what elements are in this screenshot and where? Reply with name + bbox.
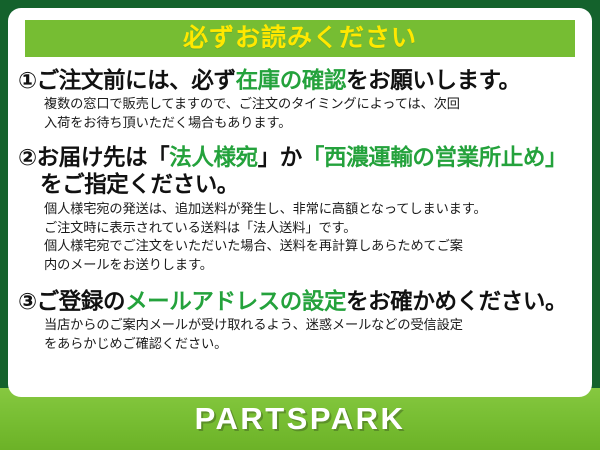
notice-item-2-bracket-open-2: 「 (302, 145, 324, 170)
notice-item-2-highlight-1: 法人様宛 (169, 145, 257, 170)
brand-logo: PARTSPARK (0, 388, 600, 450)
notice-item-2-head-text-a: お届け先は (37, 145, 148, 170)
notice-panel: 必ずお読みください ①ご注文前には、必ず在庫の確認をお願いします。 複数の窓口で… (8, 8, 592, 397)
notice-item-2-heading-line-2: をご指定ください。 (18, 171, 580, 198)
notice-item-3-heading: ③ご登録のメールアドレスの設定をお確かめください。 (18, 288, 580, 315)
notice-item-3-body-line-1: 当店からのご案内メールが受け取れるよう、迷惑メールなどの受信設定 (44, 316, 580, 335)
notice-item-1: ①ご注文前には、必ず在庫の確認をお願いします。 複数の窓口で販売してますので、ご… (18, 67, 580, 133)
notice-item-2-body-line-2: ご注文時に表示されている送料は「法人送料」です。 (44, 219, 580, 238)
notice-item-1-head-text-a: ご注文前には、必ず (37, 68, 236, 93)
notice-item-2-bracket-open-1: 「 (147, 145, 169, 170)
notice-item-1-highlight: 在庫の確認 (236, 68, 347, 93)
notice-item-1-body-line-1: 複数の窓口で販売してますので、ご注文のタイミングによっては、次回 (44, 95, 580, 114)
notice-item-2-highlight-2: 西濃運輸の営業所止め (324, 145, 545, 170)
list-marker-1: ① (18, 68, 37, 93)
notice-item-3-highlight: メールアドレスの設定 (125, 289, 346, 314)
notice-item-3-body-line-2: をあらかじめご確認ください。 (44, 335, 580, 354)
notice-item-2-heading: ②お届け先は「法人様宛」か「西濃運輸の営業所止め」 (18, 144, 580, 171)
list-marker-2: ② (18, 145, 37, 170)
brand-name: PARTSPARK (195, 401, 406, 437)
notice-card: 必ずお読みください ①ご注文前には、必ず在庫の確認をお願いします。 複数の窓口で… (0, 0, 600, 450)
notice-item-2-head-text-b: か (280, 145, 302, 170)
notice-item-3-body: 当店からのご案内メールが受け取れるよう、迷惑メールなどの受信設定 をあらかじめご… (18, 316, 580, 353)
notice-item-1-body-line-2: 入荷をお待ち頂いただく場合もあります。 (44, 114, 580, 133)
notice-item-2-bracket-close-1: 」 (258, 145, 280, 170)
header-bar: 必ずお読みください (25, 20, 575, 57)
notice-item-3: ③ご登録のメールアドレスの設定をお確かめください。 当店からのご案内メールが受け… (18, 288, 580, 354)
list-marker-3: ③ (18, 289, 37, 314)
page-title: 必ずお読みください (183, 26, 417, 51)
notice-item-2-body-line-4: 内のメールをお送りします。 (44, 256, 580, 275)
notice-item-2-body-line-3: 個人様宅宛でご注文をいただいた場合、送料を再計算しあらためてご案 (44, 237, 580, 256)
notice-item-2-bracket-close-2: 」 (545, 145, 567, 170)
notice-item-2-body-line-1: 個人様宅宛の発送は、追加送料が発生し、非常に高額となってしまいます。 (44, 200, 580, 219)
notice-item-2-body: 個人様宅宛の発送は、追加送料が発生し、非常に高額となってしまいます。 ご注文時に… (18, 200, 580, 275)
notice-item-1-heading: ①ご注文前には、必ず在庫の確認をお願いします。 (18, 67, 580, 94)
notice-items: ①ご注文前には、必ず在庫の確認をお願いします。 複数の窓口で販売してますので、ご… (8, 57, 592, 354)
notice-item-1-body: 複数の窓口で販売してますので、ご注文のタイミングによっては、次回 入荷をお待ち頂… (18, 95, 580, 132)
notice-item-2: ②お届け先は「法人様宛」か「西濃運輸の営業所止め」 をご指定ください。 個人様宅… (18, 144, 580, 275)
notice-item-3-head-text-b: をお確かめください。 (346, 289, 567, 314)
notice-item-3-head-text-a: ご登録の (37, 289, 125, 314)
notice-item-1-head-text-b: をお願いします。 (346, 68, 521, 93)
